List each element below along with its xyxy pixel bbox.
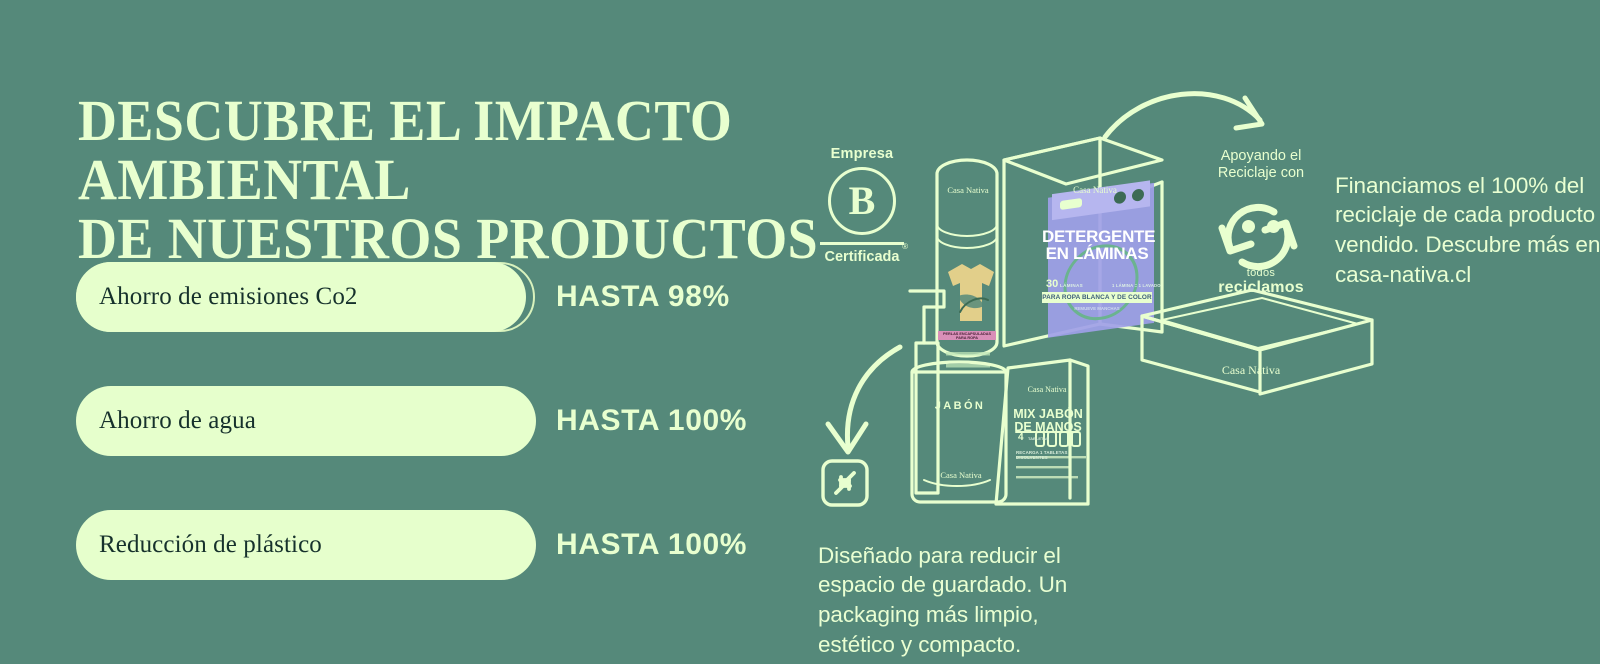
product-soap-bottle	[912, 362, 1006, 502]
product-tray	[1142, 290, 1372, 394]
metric-value: HASTA 100%	[556, 386, 747, 456]
recycling-caption: Apoyando el Reciclaje con	[1206, 148, 1316, 182]
metric-progress-fill: Ahorro de agua	[76, 386, 536, 456]
headline-line-1: DESCUBRE EL IMPACTO AMBIENTAL	[78, 88, 732, 212]
tray-brand: Casa Nativa	[1195, 363, 1307, 378]
bcorp-top-label: Empresa	[812, 146, 912, 162]
metric-progress-fill: Reducción de plástico	[76, 510, 536, 580]
metric-label: Reducción de plástico	[76, 531, 322, 559]
tshirt-graphic	[948, 264, 994, 321]
storage-caption: Diseñado para reducir el espacio de guar…	[818, 541, 1086, 660]
soap-bottle-label: JABÓN	[914, 400, 1006, 412]
arrow-curve-bottom	[828, 347, 900, 452]
headline-line-2: DE NUESTROS PRODUCTOS	[78, 209, 878, 268]
bcorp-bottom-label: Certificada	[812, 249, 912, 265]
metric-row: Ahorro de emisiones Co2 HASTA 98%	[76, 262, 776, 332]
recycling-eye-left	[1242, 220, 1255, 233]
arrow-curve-top	[1105, 94, 1262, 137]
bcorp-badge: Empresa B ® Certificada	[812, 146, 912, 265]
pouch-title-line1: MIX JABÓN	[1013, 407, 1082, 421]
recycling-eyes	[1242, 220, 1280, 233]
product-tube	[910, 160, 997, 493]
pouch-subtitle: RECARGA 1 TABLETAS DISOLVENTES	[1016, 450, 1090, 460]
metric-label: Ahorro de emisiones Co2	[76, 283, 358, 311]
detergent-count-unit: LÁMINAS	[1060, 283, 1083, 288]
recycling-caption-line1: Apoyando el	[1221, 148, 1302, 164]
recycling-brand-small: todos	[1206, 268, 1316, 279]
detergent-brand: Casa Nativa	[1052, 185, 1138, 195]
pouch-count: 4	[1018, 432, 1024, 443]
detergent-dose: 1 LÁMINA = 1 LAVADO	[1112, 283, 1161, 288]
pouch-title: MIX JABÓN DE MANOS	[1004, 408, 1092, 434]
recycling-eye-right	[1267, 220, 1280, 233]
detergent-note: REMUEVE MANCHAS	[1042, 306, 1152, 311]
metrics-list: Ahorro de emisiones Co2 HASTA 98% Ahorro…	[76, 262, 776, 634]
bcorp-divider	[820, 242, 904, 245]
pouch-title-line2: DE MANOS	[1014, 420, 1081, 434]
detergent-title: DETERGENTE EN LÁMINAS	[1042, 228, 1152, 263]
recycling-badge: Apoyando el Reciclaje con todos reciclam…	[1206, 148, 1316, 297]
recycling-caption-line2: Reciclaje con	[1218, 165, 1304, 181]
tube-band-label: PERLAS ENCAPSULADAS PARA ROPA	[940, 332, 994, 340]
pouch-count-unit: TABLETAS	[1028, 436, 1049, 441]
recycling-smiley-icon	[1218, 190, 1304, 266]
metric-row: Reducción de plástico HASTA 100%	[76, 510, 776, 580]
soap-bottle-brand: Casa Nativa	[926, 470, 996, 480]
bcorp-b-icon: B	[828, 167, 896, 235]
detergent-title-line2: EN LÁMINAS	[1046, 244, 1149, 263]
compress-arrows-icon	[820, 458, 870, 508]
page-title: DESCUBRE EL IMPACTO AMBIENTAL DE NUESTRO…	[78, 91, 878, 268]
tube-brand: Casa Nativa	[946, 185, 990, 195]
detergent-title-line1: DETERGENTE	[1042, 227, 1155, 246]
infographic-canvas: DESCUBRE EL IMPACTO AMBIENTAL DE NUESTRO…	[0, 0, 1600, 664]
product-illustration-panel: Empresa B ® Certificada .ln{fill:none;st…	[790, 0, 1600, 664]
metric-value: HASTA 98%	[556, 262, 730, 332]
registered-mark: ®	[902, 242, 908, 251]
detergent-usage: PARA ROPA BLANCA Y DE COLOR	[1042, 292, 1152, 303]
detergent-count: 30	[1046, 278, 1058, 290]
bcorp-b-letter: B	[849, 181, 876, 221]
metric-progress-fill: Ahorro de emisiones Co2	[76, 262, 526, 332]
metric-label: Ahorro de agua	[76, 407, 256, 435]
pouch-brand: Casa Nativa	[1008, 385, 1086, 394]
metric-row: Ahorro de agua HASTA 100%	[76, 386, 776, 456]
recycling-brand-bold: reciclamos	[1206, 279, 1316, 297]
metric-value: HASTA 100%	[556, 510, 747, 580]
financing-paragraph: Financiamos el 100% del reciclaje de cad…	[1335, 171, 1600, 290]
